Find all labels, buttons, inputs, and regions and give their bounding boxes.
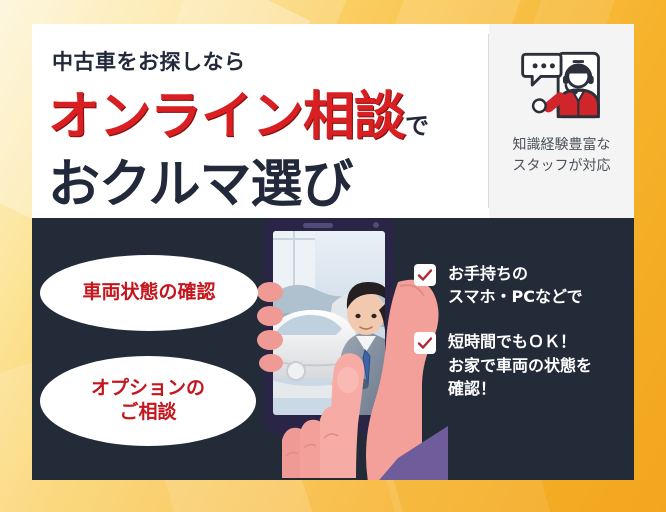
banner-root: 中古車をお探しなら オンライン相談で おクルマ選び bbox=[0, 0, 666, 512]
headline-eyebrow: 中古車をお探しなら bbox=[52, 46, 246, 76]
features-panel: 車両状態の確認 オプションの ご相談 お手持ちの スマホ・PCなどで 短時間でも bbox=[32, 218, 634, 480]
headline-text-area: 中古車をお探しなら オンライン相談で おクルマ選び bbox=[32, 24, 488, 218]
headline-main: オンライン相談で bbox=[48, 74, 429, 149]
feature-bubble-options-consult[interactable]: オプションの ご相談 bbox=[40, 356, 256, 446]
checklist-item-devices-text: お手持ちの スマホ・PCなどで bbox=[448, 262, 583, 308]
checklist-item-short-time-text: 短時間でもＯＫ！ お家で車両の状態を 確認！ bbox=[448, 330, 592, 400]
operator-headset-icon bbox=[514, 38, 610, 134]
feature-bubble-vehicle-condition[interactable]: 車両状態の確認 bbox=[40, 255, 258, 331]
checklist-item-devices: お手持ちの スマホ・PCなどで bbox=[414, 262, 630, 308]
headline-card: 中古車をお探しなら オンライン相談で おクルマ選び bbox=[32, 24, 634, 218]
staff-panel: 知識経験豊富な スタッフが対応 bbox=[489, 24, 634, 218]
checklist: お手持ちの スマホ・PCなどで 短時間でもＯＫ！ お家で車両の状態を 確認！ bbox=[414, 262, 630, 422]
check-icon bbox=[414, 332, 436, 354]
staff-caption-line1: 知識経験豊富な bbox=[513, 136, 611, 155]
checklist-item-short-time: 短時間でもＯＫ！ お家で車両の状態を 確認！ bbox=[414, 330, 630, 400]
check-icon bbox=[414, 264, 436, 286]
headline-main-red: オンライン相談 bbox=[48, 87, 405, 147]
headline-sub: おクルマ選び bbox=[48, 142, 352, 217]
headline-main-suffix: で bbox=[405, 112, 429, 140]
staff-caption-line2: スタッフが対応 bbox=[513, 157, 611, 176]
